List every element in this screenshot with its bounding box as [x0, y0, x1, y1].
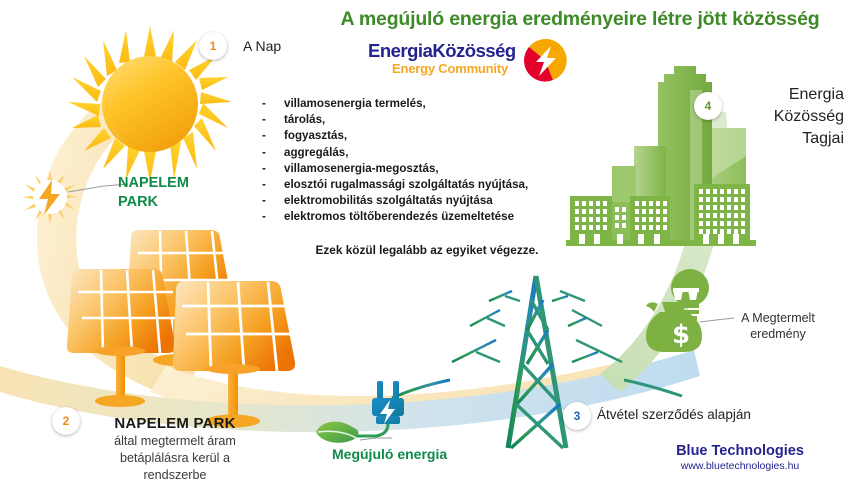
list-item-label: tárolás, [284, 112, 325, 128]
list-item: -elektromobilitás szolgáltatás nyújtása [262, 193, 592, 209]
label-members-line3: Tagjai [744, 128, 844, 150]
bullet-marker: - [262, 96, 284, 112]
list-item: -villamosenergia-megosztás, [262, 161, 592, 177]
logo-name-en: Energy Community [392, 61, 508, 76]
list-item-label: elektromobilitás szolgáltatás nyújtása [284, 193, 493, 209]
list-item: -aggregálás, [262, 145, 592, 161]
footer-website[interactable]: www.bluetechnologies.hu [640, 460, 840, 472]
list-closing-note: Ezek közül legalább az egyiket végezze. [262, 243, 592, 257]
step2-line3: rendszerbe [60, 467, 290, 483]
label-community-members: Energia Közösség Tagjai [744, 84, 844, 150]
step-badge-1-label: 1 [199, 32, 227, 60]
list-item-label: aggregálás, [284, 145, 348, 161]
label-members-line1: Energia [744, 84, 844, 106]
bullet-marker: - [262, 161, 284, 177]
label-result: A Megtermelt eredmény [722, 310, 834, 342]
bullet-marker: - [262, 177, 284, 193]
bullet-marker: - [262, 145, 284, 161]
list-item-label: elektromos töltőberendezés üzemeltetése [284, 209, 514, 225]
step-badge-3-label: 3 [563, 402, 591, 430]
label-offtake: Átvétel szerződés alapján [597, 407, 751, 422]
step2-title: NAPELEM PARK [60, 415, 290, 432]
step-badge-3[interactable]: 3 [563, 402, 591, 430]
label-solar-park-line1: NAPELEM [118, 174, 189, 193]
footer-brand[interactable]: Blue Technologies www.bluetechnologies.h… [640, 443, 840, 472]
svg-text:$: $ [672, 320, 690, 350]
label-result-line2: eredmény [722, 326, 834, 342]
label-sun: A Nap [243, 38, 281, 54]
step2-line2: betáplálásra kerül a [60, 450, 290, 466]
step2-line1: által megtermelt áram [60, 433, 290, 449]
page-title: A megújuló energia eredményeire létre jö… [310, 8, 850, 31]
label-solar-park-line2: PARK [118, 193, 189, 212]
label-renewable-energy: Megújuló energia [332, 446, 447, 462]
label-result-line1: A Megtermelt [722, 310, 834, 326]
bullet-marker: - [262, 209, 284, 225]
list-item: -elosztói rugalmassági szolgáltatás nyúj… [262, 177, 592, 193]
step2-description: NAPELEM PARK által megtermelt áram betáp… [60, 415, 290, 483]
lightning-bolt-circle-icon [523, 38, 567, 82]
bullet-marker: - [262, 112, 284, 128]
step-badge-4[interactable]: 4 [694, 92, 722, 120]
label-solar-park: NAPELEM PARK [118, 174, 189, 212]
list-item: -tárolás, [262, 112, 592, 128]
bullet-marker: - [262, 193, 284, 209]
step-badge-4-label: 4 [694, 92, 722, 120]
list-item-label: villamosenergia termelés, [284, 96, 426, 112]
list-item-label: fogyasztás, [284, 128, 347, 144]
activities-list: -villamosenergia termelés, -tárolás, -fo… [262, 96, 592, 226]
list-item: -elektromos töltőberendezés üzemeltetése [262, 209, 592, 225]
logo-name-hu: EnergiaKözösség [368, 40, 516, 62]
footer-company-name: Blue Technologies [640, 443, 840, 459]
list-item-label: elosztói rugalmassági szolgáltatás nyújt… [284, 177, 528, 193]
infographic-canvas: $ A megújuló energia eredményeire létre … [0, 0, 850, 493]
list-item-label: villamosenergia-megosztás, [284, 161, 439, 177]
energiakozosseg-logo[interactable]: EnergiaKözösség Energy Community [368, 40, 563, 86]
list-item: -fogyasztás, [262, 128, 592, 144]
green-city-buildings-icon [566, 66, 756, 246]
step-badge-1[interactable]: 1 [199, 32, 227, 60]
money-bag-lightbulb-icon: $ [646, 269, 709, 352]
label-members-line2: Közösség [744, 106, 844, 128]
list-item: -villamosenergia termelés, [262, 96, 592, 112]
bullet-marker: - [262, 128, 284, 144]
